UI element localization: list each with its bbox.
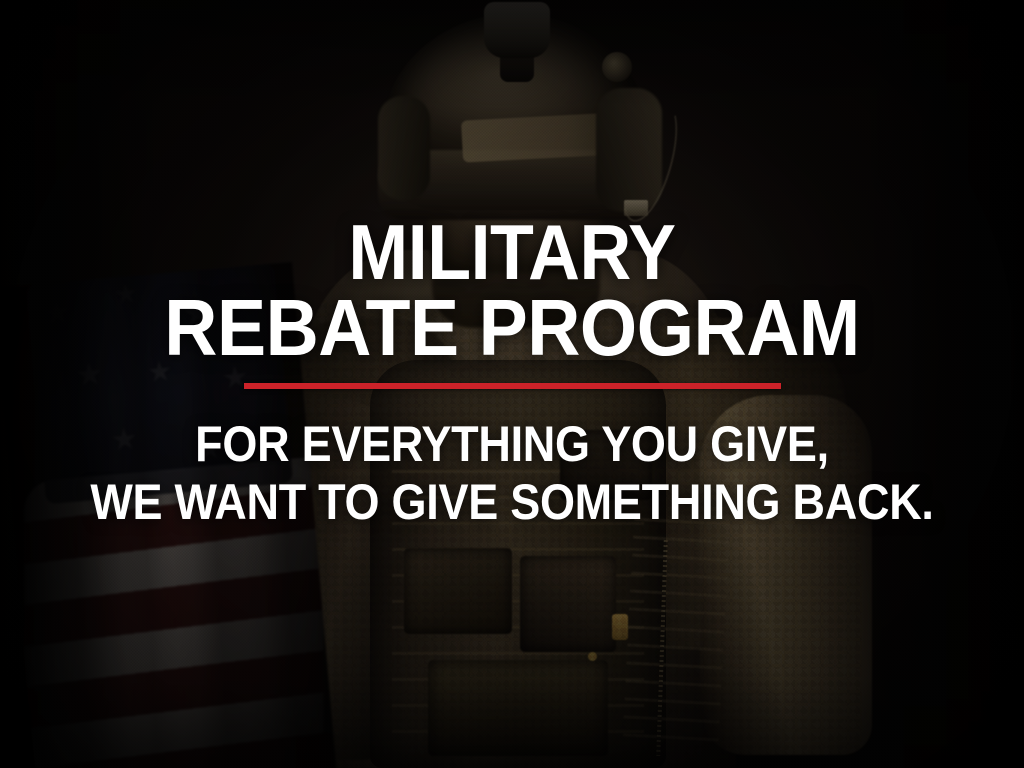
subheadline-line-1: FOR EVERYTHING YOU GIVE, (51, 415, 973, 473)
banner-text-overlay: MILITARY REBATE PROGRAM FOR EVERYTHING Y… (0, 0, 1024, 768)
red-divider-rule (244, 383, 781, 389)
headline-line-1: MILITARY (41, 215, 983, 289)
subheadline-line-2: WE WANT TO GIVE SOMETHING BACK. (51, 473, 973, 531)
subheadline: FOR EVERYTHING YOU GIVE, WE WANT TO GIVE… (51, 415, 973, 531)
military-rebate-banner: ★ ★ ★ ★ ★ ★ ★ ★ MILITARY REBATE PROGRAM … (0, 0, 1024, 768)
headline-line-2: REBATE PROGRAM (41, 289, 983, 367)
